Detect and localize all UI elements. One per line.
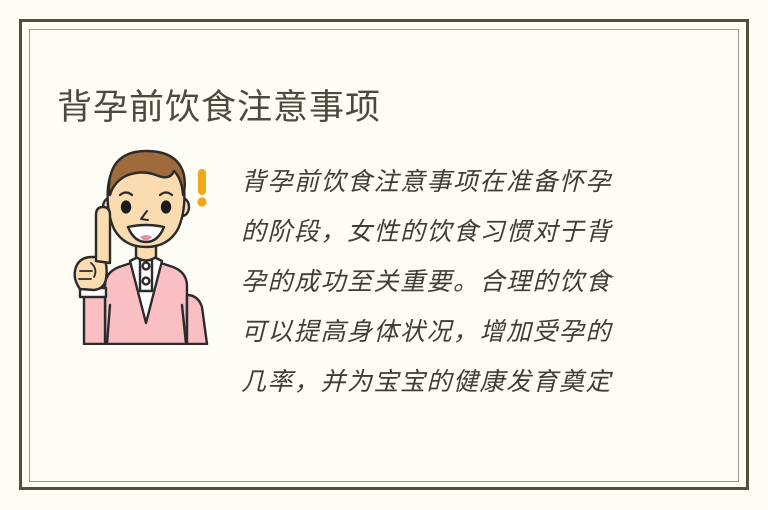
article-line: 背孕前饮食注意事项在准备怀孕 [241,157,668,207]
exclamation-icon [197,169,206,207]
article-line: 孕的成功至关重要。合理的饮食 [241,257,668,307]
shirt-button-bottom [143,278,150,285]
index-finger [96,207,110,263]
page-title: 背孕前饮食注意事项 [57,85,381,131]
article-line: 可以提高身体状况，增加受孕的 [241,307,668,357]
sweater-right-sleeve [187,295,207,344]
pointing-person-illustration [58,145,233,345]
page-root: 背孕前饮食注意事项 [0,0,768,510]
article-line: 几率，并为宝宝的健康发育奠定 [241,357,668,407]
person-svg [58,145,233,345]
eye-right [161,200,171,213]
article-line: 的阶段，女性的饮食习惯对于背 [241,207,668,257]
eye-left [121,200,131,213]
article-body: 背孕前饮食注意事项在准备怀孕 的阶段，女性的饮食习惯对于背 孕的成功至关重要。合… [241,157,668,407]
article-content: 背孕前饮食注意事项在准备怀孕 的阶段，女性的饮食习惯对于背 孕的成功至关重要。合… [48,145,668,415]
shirt-button-top [143,263,150,270]
